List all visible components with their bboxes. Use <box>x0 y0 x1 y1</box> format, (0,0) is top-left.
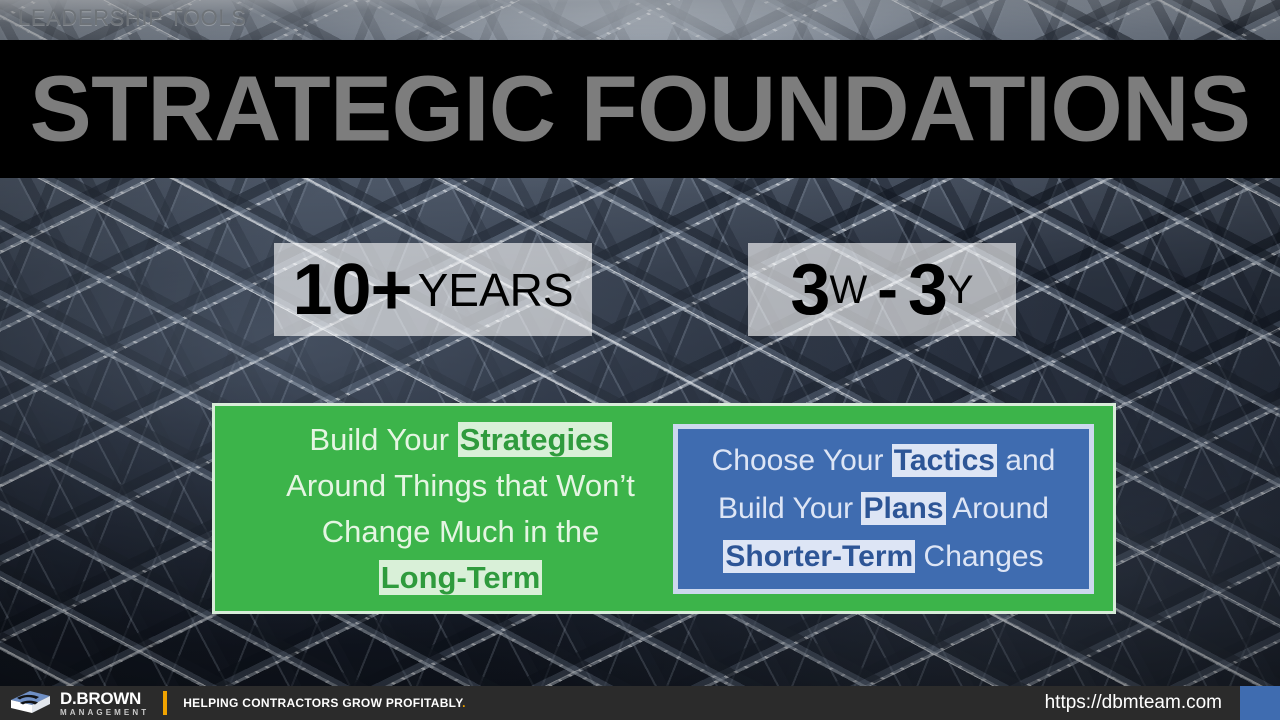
footer-divider <box>163 691 167 715</box>
title-band: STRATEGIC FOUNDATIONS <box>0 40 1280 178</box>
strategy-line3: Change Much in the <box>322 514 599 549</box>
strategy-highlight-long-term: Long-Term <box>379 560 543 595</box>
tactics-line3-post: Changes <box>915 540 1043 573</box>
strategy-line1-pre: Build Your <box>309 422 457 457</box>
footer-website-link[interactable]: https://dbmteam.com <box>1045 692 1222 714</box>
footer-tagline-text: HELPING CONTRACTORS GROW PROFITABLY <box>183 696 462 710</box>
tactics-highlight-shorter-term: Shorter-Term <box>723 540 915 573</box>
stat-horizon-dash: - <box>877 259 898 321</box>
page-title: STRATEGIC FOUNDATIONS <box>0 63 1280 156</box>
strategy-line2: Around Things that Won’t <box>286 468 635 503</box>
logo-name: D.BROWN <box>60 690 149 707</box>
stat-horizon-end-unit: Y <box>947 270 974 310</box>
dbrown-logo-icon <box>10 690 52 716</box>
logo-subtitle: MANAGEMENT <box>60 709 149 717</box>
slide: LEADERSHIP TOOLS STRATEGIC FOUNDATIONS 1… <box>0 0 1280 720</box>
tactics-panel: Choose Your Tactics and Build Your Plans… <box>673 424 1094 594</box>
stat-horizon-end-value: 3 <box>908 254 947 326</box>
footer-accent-block <box>1240 686 1280 720</box>
stat-chip-horizon: 3 W - 3 Y <box>748 243 1016 336</box>
strategy-highlight-strategies: Strategies <box>458 422 612 457</box>
tactics-panel-text: Choose Your Tactics and Build Your Plans… <box>678 437 1089 581</box>
tactics-line1-pre: Choose Your <box>712 444 892 477</box>
footer-bar: D.BROWN MANAGEMENT HELPING CONTRACTORS G… <box>0 686 1280 720</box>
stat-years-value: 10+ <box>292 254 411 326</box>
footer-tagline: HELPING CONTRACTORS GROW PROFITABLY. <box>183 696 466 710</box>
stat-horizon-start-value: 3 <box>790 254 829 326</box>
tactics-highlight-tactics: Tactics <box>892 444 997 477</box>
logo-wordmark: D.BROWN MANAGEMENT <box>60 690 149 717</box>
stat-years-unit: YEARS <box>418 267 574 313</box>
strategy-panel-text: Build Your Strategies Around Things that… <box>233 417 688 601</box>
tactics-highlight-plans: Plans <box>861 492 945 525</box>
stat-chip-years: 10+ YEARS <box>274 243 592 336</box>
stat-horizon-start-unit: W <box>829 270 867 310</box>
tactics-line2-post: Around <box>946 492 1049 525</box>
eyebrow-label: LEADERSHIP TOOLS <box>18 5 246 31</box>
footer-tagline-dot: . <box>462 696 466 710</box>
tactics-line2-pre: Build Your <box>718 492 861 525</box>
tactics-line1-post: and <box>997 444 1055 477</box>
